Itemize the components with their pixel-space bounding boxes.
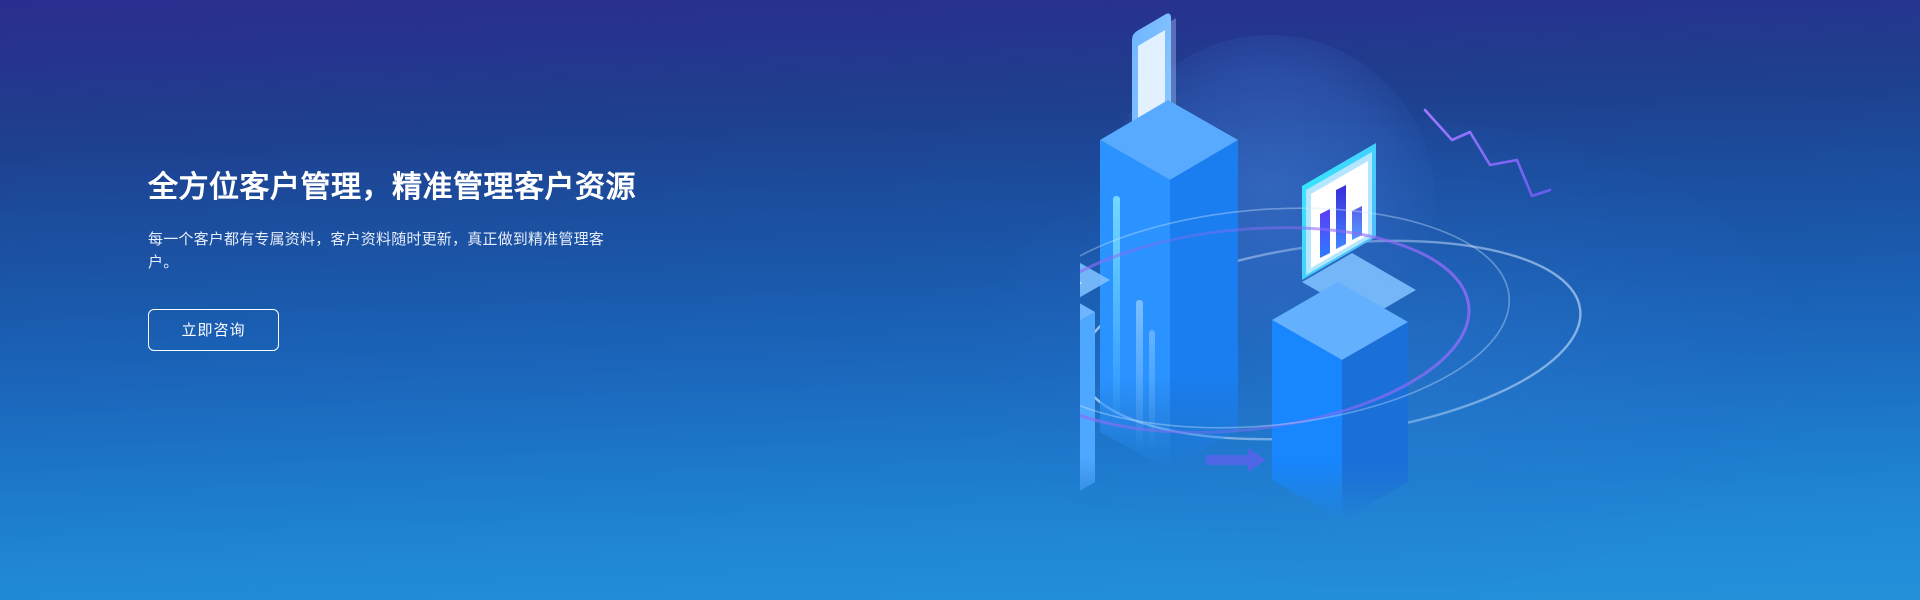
hero-copy-block: 全方位客户管理，精准管理客户资源 每一个客户都有专属资料，客户资料随时更新，真正… [148, 170, 788, 351]
arrow-right-purple [1206, 448, 1266, 472]
right-pedestal [1272, 143, 1416, 520]
hero-banner: 全方位客户管理，精准管理客户资源 每一个客户都有专属资料，客户资料随时更新，真正… [0, 0, 1920, 600]
hero-illustration [1080, 0, 1780, 600]
zigzag-line [1425, 110, 1550, 196]
monitor-device [1302, 143, 1416, 319]
hero-subtitle: 每一个客户都有专属资料，客户资料随时更新，真正做到精准管理客户。 [148, 228, 626, 275]
consult-now-button[interactable]: 立即咨询 [148, 309, 279, 351]
page-title: 全方位客户管理，精准管理客户资源 [148, 170, 788, 206]
